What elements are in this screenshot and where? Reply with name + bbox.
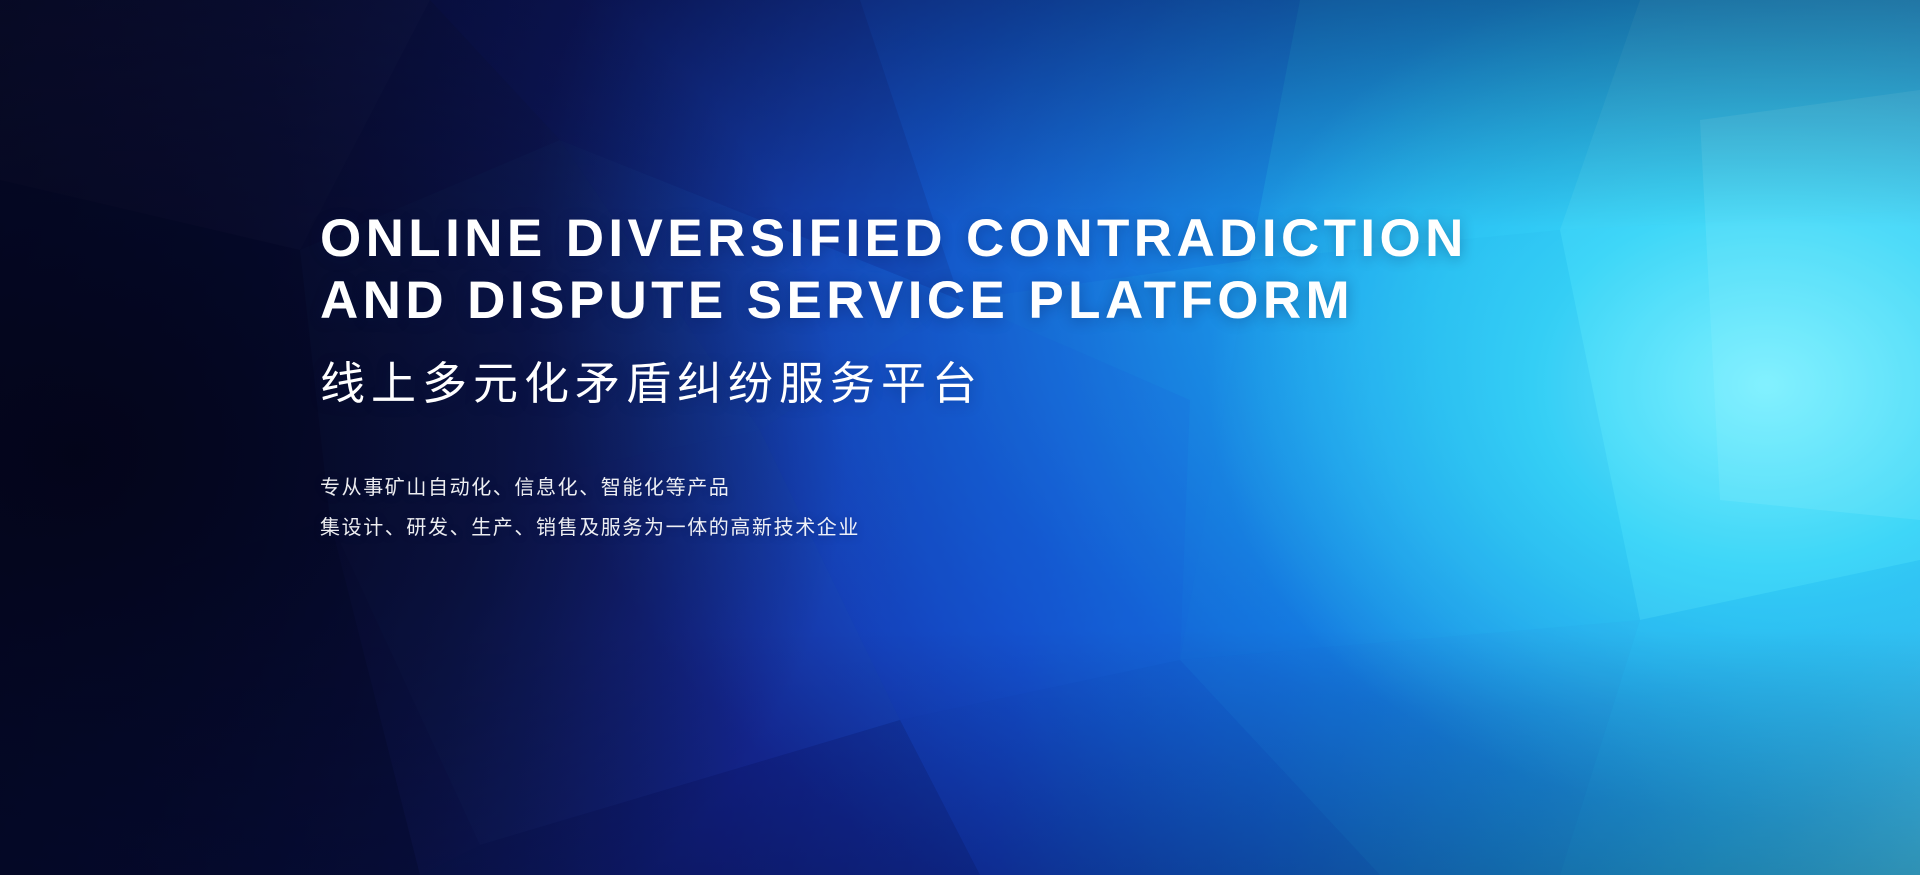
- facet-glow-right: [1700, 90, 1920, 520]
- description-line-2: 集设计、研发、生产、销售及服务为一体的高新技术企业: [320, 508, 1640, 548]
- hero-text-block: ONLINE DIVERSIFIED CONTRADICTION AND DIS…: [320, 208, 1640, 548]
- subtitle-chinese: 线上多元化矛盾纠纷服务平台: [320, 356, 1640, 412]
- headline-line-1: ONLINE DIVERSIFIED CONTRADICTION: [320, 208, 1640, 270]
- description-block: 专从事矿山自动化、信息化、智能化等产品 集设计、研发、生产、销售及服务为一体的高…: [320, 468, 1640, 548]
- headline-line-2: AND DISPUTE SERVICE PLATFORM: [320, 270, 1640, 332]
- description-line-1: 专从事矿山自动化、信息化、智能化等产品: [320, 468, 1640, 508]
- hero-banner: ONLINE DIVERSIFIED CONTRADICTION AND DIS…: [0, 0, 1920, 875]
